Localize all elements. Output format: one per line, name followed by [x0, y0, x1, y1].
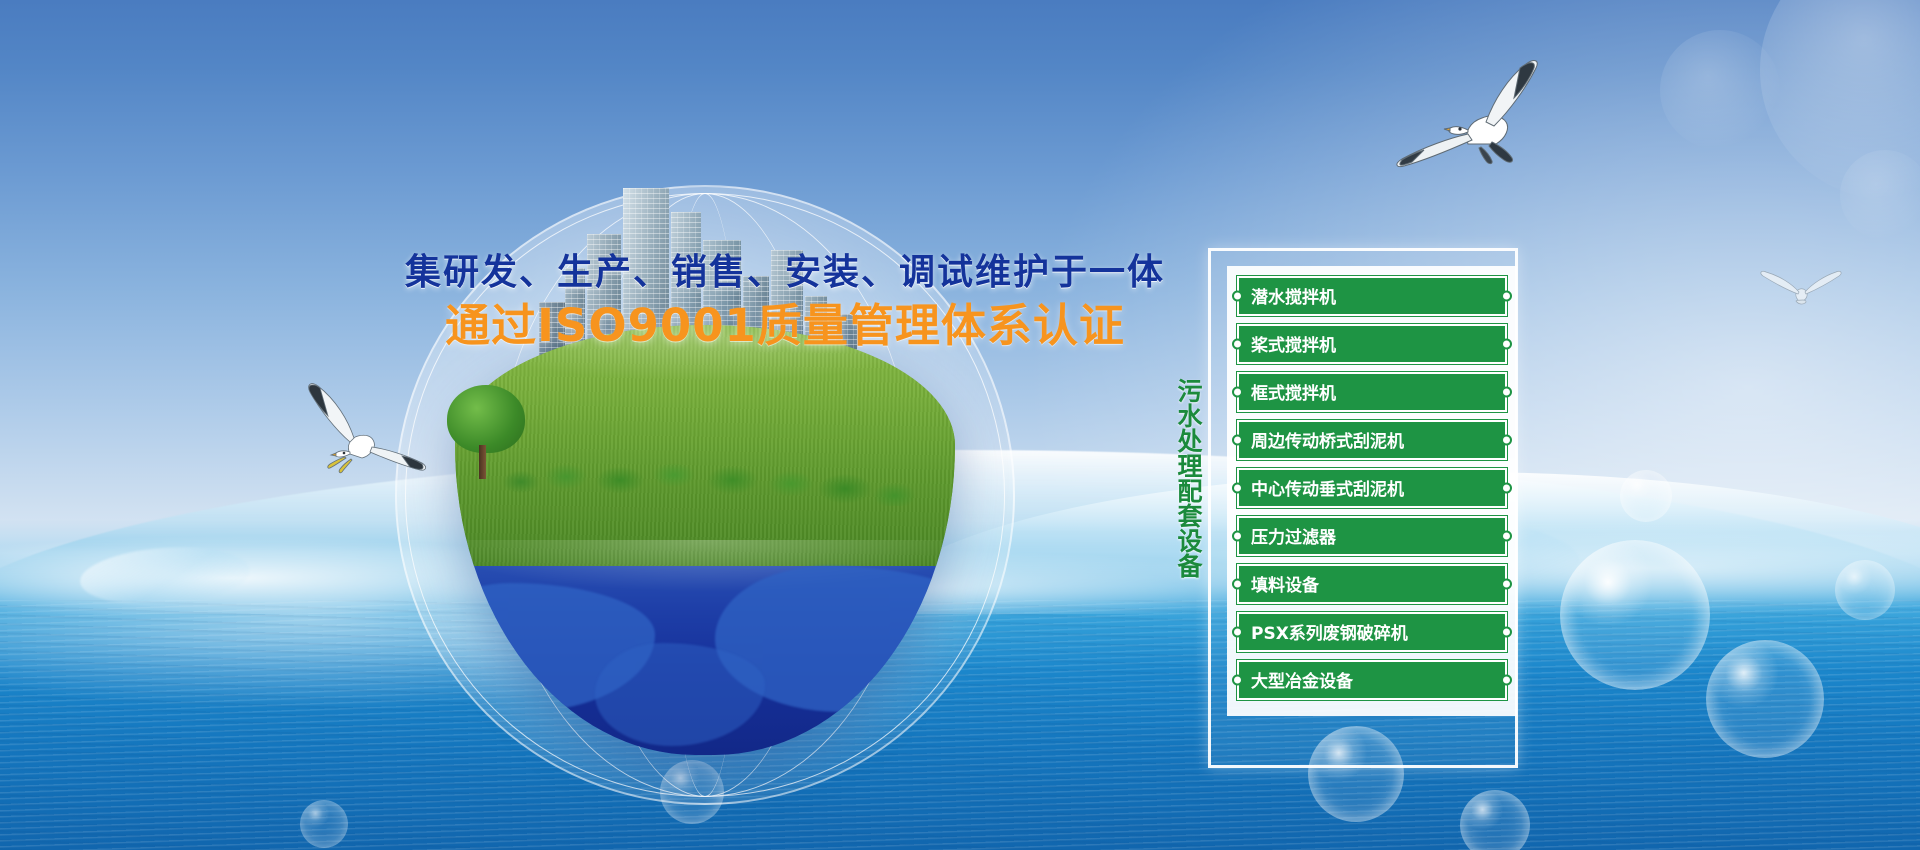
screw-left-icon — [1232, 578, 1243, 589]
product-label: 大型冶金设备 — [1251, 667, 1353, 692]
continent-shape — [595, 643, 765, 746]
screw-left-icon — [1232, 434, 1243, 445]
product-plate[interactable]: 中心传动垂式刮泥机 — [1237, 468, 1507, 508]
list-item[interactable]: 压力过滤器 — [1237, 512, 1507, 559]
water-bubble — [1706, 640, 1824, 758]
screw-right-icon — [1501, 578, 1512, 589]
screw-left-icon — [1232, 626, 1243, 637]
screw-right-icon — [1501, 290, 1512, 301]
tree-trunk — [479, 445, 486, 479]
screw-left-icon — [1232, 530, 1243, 541]
seagull-top-right-icon — [1368, 52, 1548, 212]
lens-flare-small-icon — [1660, 30, 1780, 150]
product-label: 中心传动垂式刮泥机 — [1251, 475, 1404, 500]
product-plate[interactable]: PSX系列废钢破碎机 — [1237, 612, 1507, 652]
water-bubble — [300, 800, 348, 848]
lens-flare-tiny-icon — [1840, 150, 1920, 240]
screw-left-icon — [1232, 290, 1243, 301]
product-plate[interactable]: 周边传动桥式刮泥机 — [1237, 420, 1507, 460]
list-item[interactable]: 中心传动垂式刮泥机 — [1237, 464, 1507, 511]
product-plate[interactable]: 框式搅拌机 — [1237, 372, 1507, 412]
screw-right-icon — [1501, 674, 1512, 685]
product-plate[interactable]: 桨式搅拌机 — [1237, 324, 1507, 364]
headline-primary: 集研发、生产、销售、安装、调试维护于一体 — [385, 250, 1185, 295]
product-plate[interactable]: 压力过滤器 — [1237, 516, 1507, 556]
water-bubble — [1835, 560, 1895, 620]
list-item[interactable]: PSX系列废钢破碎机 — [1237, 608, 1507, 655]
product-label: 潜水搅拌机 — [1251, 283, 1336, 308]
screw-left-icon — [1232, 674, 1243, 685]
screw-left-icon — [1232, 386, 1243, 397]
list-item[interactable]: 桨式搅拌机 — [1237, 320, 1507, 367]
product-label: 压力过滤器 — [1251, 523, 1336, 548]
screw-right-icon — [1501, 482, 1512, 493]
list-item[interactable]: 框式搅拌机 — [1237, 368, 1507, 415]
headline-block: 集研发、生产、销售、安装、调试维护于一体 通过ISO9001质量管理体系认证 — [385, 250, 1185, 353]
screw-left-icon — [1232, 338, 1243, 349]
screw-right-icon — [1501, 626, 1512, 637]
seagull-far-right-icon — [1752, 264, 1844, 320]
screw-left-icon — [1232, 482, 1243, 493]
water-bubble — [1620, 470, 1672, 522]
water-bubble — [1560, 540, 1710, 690]
tree-line — [485, 420, 935, 506]
list-item[interactable]: 大型冶金设备 — [1237, 656, 1507, 703]
product-list: 潜水搅拌机 桨式搅拌机 框式搅拌机 — [1237, 272, 1507, 704]
product-label: 填料设备 — [1251, 571, 1319, 596]
product-plate[interactable]: 填料设备 — [1237, 564, 1507, 604]
product-label: 桨式搅拌机 — [1251, 331, 1336, 356]
product-label: PSX系列废钢破碎机 — [1251, 619, 1408, 644]
list-item[interactable]: 潜水搅拌机 — [1237, 272, 1507, 319]
screw-right-icon — [1501, 530, 1512, 541]
product-panel-vertical-title: 污水处理配套设备 — [1172, 378, 1202, 578]
seagull-left-icon — [292, 372, 442, 492]
product-label: 周边传动桥式刮泥机 — [1251, 427, 1404, 452]
product-panel: 潜水搅拌机 桨式搅拌机 框式搅拌机 — [1227, 266, 1517, 716]
screw-right-icon — [1501, 338, 1512, 349]
headline-secondary: 通过ISO9001质量管理体系认证 — [385, 299, 1185, 353]
earth-sphere — [455, 325, 955, 755]
product-plate[interactable]: 大型冶金设备 — [1237, 660, 1507, 700]
list-item[interactable]: 填料设备 — [1237, 560, 1507, 607]
product-plate[interactable]: 潜水搅拌机 — [1237, 276, 1507, 316]
tree-crown — [447, 385, 525, 453]
product-label: 框式搅拌机 — [1251, 379, 1336, 404]
screw-right-icon — [1501, 386, 1512, 397]
list-item[interactable]: 周边传动桥式刮泥机 — [1237, 416, 1507, 463]
banner-stage: 集研发、生产、销售、安装、调试维护于一体 通过ISO9001质量管理体系认证 — [0, 0, 1920, 850]
screw-right-icon — [1501, 434, 1512, 445]
